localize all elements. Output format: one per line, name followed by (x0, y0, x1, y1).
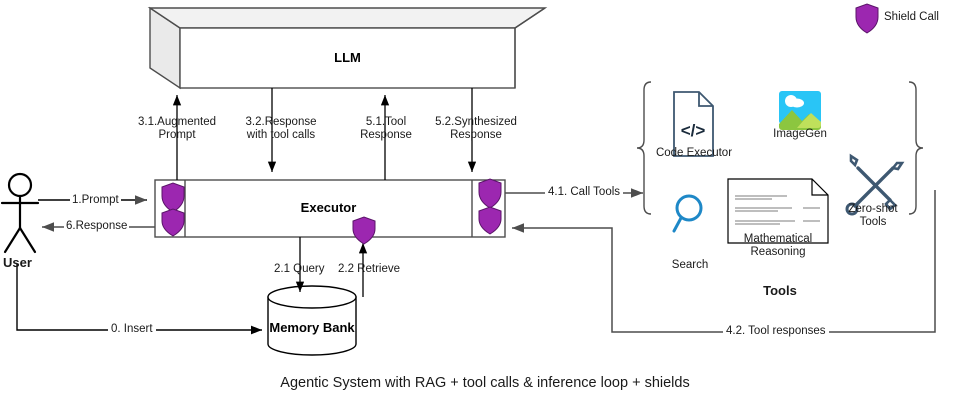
llm-label: LLM (180, 50, 515, 65)
edge-label-call-tools: 4.1. Call Tools (545, 186, 623, 199)
llm-node[interactable] (150, 8, 545, 88)
edge-label-augmented-prompt: 3.1.Augmented Prompt (138, 116, 216, 142)
tool-label-search: Search (662, 259, 718, 272)
legend-label: Shield Call (884, 11, 939, 24)
shield-icon-legend[interactable] (856, 4, 878, 33)
tools-brace-right (909, 82, 923, 214)
tools-group-label: Tools (730, 284, 830, 297)
llm-cube-top (150, 8, 545, 28)
edge-label-tool-responses: 4.2. Tool responses (723, 325, 829, 338)
tool-label-imagegen: ImageGen (770, 128, 830, 141)
tool-label-math-reasoning: Mathematical Reasoning (728, 233, 828, 259)
edge-label-retrieve: 2.2 Retrieve (338, 263, 400, 276)
edge-label-response: 6.Response (64, 220, 129, 233)
user-head (9, 174, 31, 196)
edge-label-query: 2.1 Query (274, 263, 325, 276)
user-leg-left (5, 228, 20, 252)
executor-label: Executor (185, 200, 472, 215)
image-icon[interactable] (779, 91, 821, 130)
diagram-caption: Agentic System with RAG + tool calls & i… (0, 377, 970, 390)
user-label: User (3, 256, 32, 269)
tool-label-zero-shot: Zero-shot Tools (840, 203, 906, 229)
user-actor[interactable] (2, 174, 38, 252)
memory-bank-label: Memory Bank (268, 320, 356, 335)
edge-label-synthesized-response: 5.2.Synthesized Response (432, 116, 520, 142)
edge-label-tool-response: 5.1.Tool Response (352, 116, 420, 142)
memory-bank-top (268, 286, 356, 308)
svg-text:</>: </> (681, 121, 706, 140)
edge-label-response-tool-calls: 3.2.Response with tool calls (238, 116, 324, 142)
user-leg-right (20, 228, 35, 252)
magnifier-icon[interactable] (674, 196, 701, 231)
tools-brace-left (637, 82, 651, 214)
shield-icon-memory[interactable] (353, 217, 375, 244)
edge-label-insert: 0. Insert (108, 323, 156, 336)
edge-label-prompt: 1.Prompt (70, 194, 121, 207)
edge-insert (17, 264, 262, 330)
tool-label-code-executor: Code Executor (652, 147, 736, 160)
